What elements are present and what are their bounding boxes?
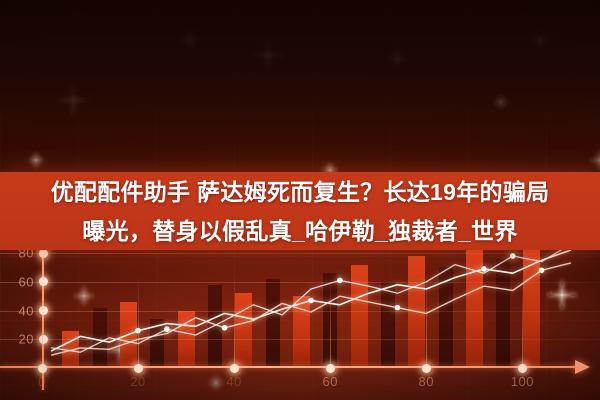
data-point bbox=[510, 253, 516, 259]
x-tick bbox=[230, 364, 239, 373]
x-tick bbox=[422, 364, 431, 373]
data-point bbox=[308, 298, 314, 304]
x-tick-label: 80 bbox=[419, 374, 434, 389]
x-axis bbox=[0, 366, 580, 368]
banner-image: 20406080100 020406080100 优配配件助手 萨达姆死而复生？… bbox=[0, 0, 600, 400]
x-tick-stem bbox=[330, 276, 331, 368]
y-tick bbox=[39, 277, 48, 286]
x-tick bbox=[134, 364, 143, 373]
x-tick-stem bbox=[426, 276, 427, 368]
page-title: 优配配件助手 萨达姆死而复生？长达19年的骗局 曝光，替身以假乱真_哈伊勒_独裁… bbox=[0, 173, 600, 251]
x-tick-label: 20 bbox=[130, 374, 145, 389]
x-tick-label: 100 bbox=[511, 374, 534, 389]
x-tick-label: 40 bbox=[226, 374, 241, 389]
title-line-1: 优配配件助手 萨达姆死而复生？长达19年的骗局 bbox=[0, 173, 600, 212]
title-line-2: 曝光，替身以假乱真_哈伊勒_独裁者_世界 bbox=[0, 212, 600, 251]
x-axis-arrow-icon bbox=[575, 360, 590, 374]
x-tick-stem bbox=[522, 276, 523, 368]
y-tick-label: 20 bbox=[19, 332, 34, 347]
y-tick-label: 60 bbox=[19, 274, 34, 289]
data-point bbox=[481, 266, 487, 272]
x-tick-label: 0 bbox=[38, 374, 46, 389]
x-tick-label: 60 bbox=[322, 374, 337, 389]
data-point bbox=[539, 268, 545, 274]
x-tick bbox=[326, 364, 335, 373]
y-tick bbox=[39, 335, 48, 344]
data-point bbox=[164, 326, 170, 332]
data-point bbox=[222, 325, 228, 331]
y-tick bbox=[39, 306, 48, 315]
x-tick-stem bbox=[234, 276, 235, 368]
x-tick-stem bbox=[138, 276, 139, 368]
data-point bbox=[337, 278, 343, 284]
x-tick bbox=[38, 364, 47, 373]
data-point bbox=[395, 305, 401, 311]
x-tick bbox=[518, 364, 527, 373]
y-tick-label: 40 bbox=[19, 303, 34, 318]
x-tick-stem bbox=[42, 276, 43, 368]
